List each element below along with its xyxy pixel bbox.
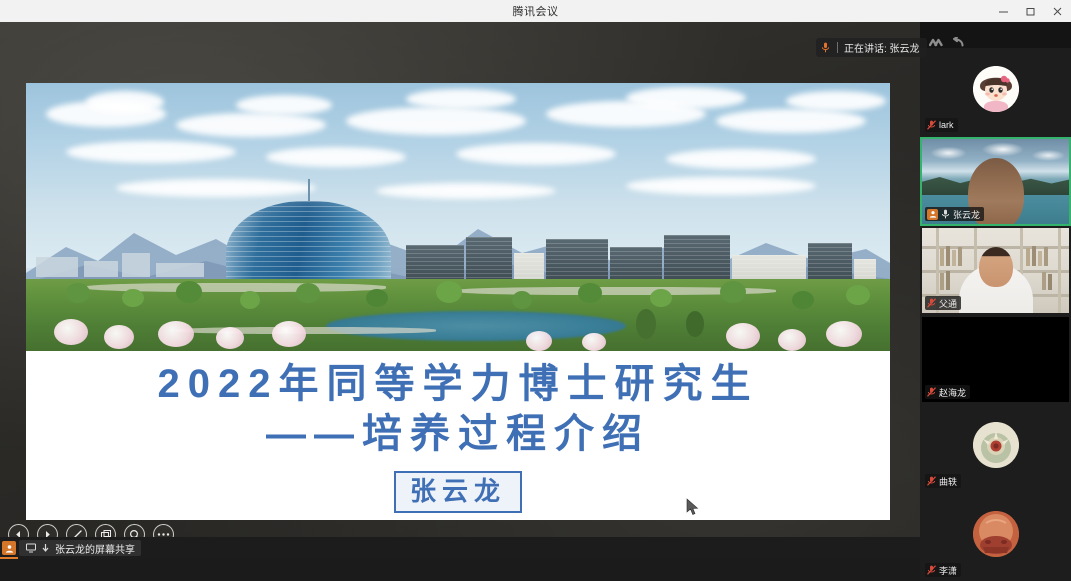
- participant-name: lark: [939, 120, 954, 130]
- photo-avatar: [973, 422, 1019, 468]
- slide-text-area: 2022年同等学力博士研究生 ——培养过程介绍 张云龙: [26, 351, 890, 520]
- mic-muted-icon: [927, 298, 936, 309]
- mic-muted-icon: [927, 565, 936, 576]
- participant-name: 张云龙: [953, 208, 980, 221]
- host-badge-icon: [927, 209, 938, 220]
- window-controls: [990, 0, 1071, 22]
- tile-label: 张云龙: [925, 207, 984, 221]
- tile-label: lark: [925, 118, 958, 132]
- participant-tile-6[interactable]: 李潇: [920, 493, 1071, 581]
- tile-label: 曲轶: [925, 474, 961, 488]
- participant-name: 曲轶: [939, 475, 957, 488]
- divider: [837, 42, 838, 53]
- microphone-icon: [820, 41, 831, 54]
- campus-lake: [326, 311, 626, 341]
- screen-share-taskbar: 张云龙的屏幕共享: [0, 537, 920, 559]
- share-owner-item[interactable]: 张云龙的屏幕共享: [19, 540, 141, 556]
- tile-label: 赵海龙: [925, 385, 970, 399]
- participant-filmstrip[interactable]: lark 张云龙: [920, 22, 1071, 581]
- slide-title-line2: ——培养过程介绍: [26, 409, 890, 459]
- window-title: 腾讯会议: [513, 3, 559, 19]
- participant-tile-lark[interactable]: lark: [920, 48, 1071, 137]
- close-icon[interactable]: [1044, 0, 1071, 22]
- download-arrow-icon: [40, 543, 51, 554]
- filmstrip-controls[interactable]: [928, 36, 965, 49]
- presentation-slide: 2022年同等学力博士研究生 ——培养过程介绍 张云龙: [26, 83, 890, 520]
- chevrons-up-icon[interactable]: [928, 36, 943, 49]
- photo-avatar: [973, 511, 1019, 557]
- mic-muted-icon: [927, 387, 936, 398]
- share-owner-label: 张云龙的屏幕共享: [55, 541, 135, 556]
- participant-name: 李潇: [939, 564, 957, 577]
- participant-tile-4[interactable]: 赵海龙: [920, 315, 1071, 404]
- taskbar-active-indicator: [0, 557, 18, 559]
- mic-muted-icon: [927, 120, 936, 131]
- host-badge-icon: [2, 541, 16, 555]
- tile-label: 父通: [925, 296, 961, 310]
- mic-muted-icon: [927, 476, 936, 487]
- active-speaker-indicator: 正在讲话: 张云龙: [816, 38, 927, 57]
- collapse-arrow-icon[interactable]: [950, 36, 965, 49]
- campus-photo: [26, 83, 890, 351]
- participant-name: 父通: [939, 297, 957, 310]
- title-bar: 腾讯会议: [0, 0, 1071, 22]
- cartoon-girl-avatar: [973, 66, 1019, 112]
- shared-screen-stage[interactable]: 2022年同等学力博士研究生 ——培养过程介绍 张云龙: [0, 22, 920, 559]
- participant-tile-3[interactable]: 父通: [920, 226, 1071, 315]
- tile-label: 李潇: [925, 563, 961, 577]
- participant-tile-zhangyunlong[interactable]: 张云龙: [920, 137, 1071, 226]
- slide-title-line1: 2022年同等学力博士研究生: [26, 359, 890, 409]
- monitor-icon: [25, 543, 36, 554]
- participant-tile-5[interactable]: 曲轶: [920, 404, 1071, 493]
- maximize-icon[interactable]: [1017, 0, 1044, 22]
- participant-name: 赵海龙: [939, 386, 966, 399]
- minimize-icon[interactable]: [990, 0, 1017, 22]
- slide-presenter-name: 张云龙: [394, 471, 522, 513]
- tencent-meeting-window: 腾讯会议: [0, 0, 1071, 581]
- active-speaker-label: 正在讲话: 张云龙: [844, 40, 920, 55]
- mic-icon: [941, 209, 950, 220]
